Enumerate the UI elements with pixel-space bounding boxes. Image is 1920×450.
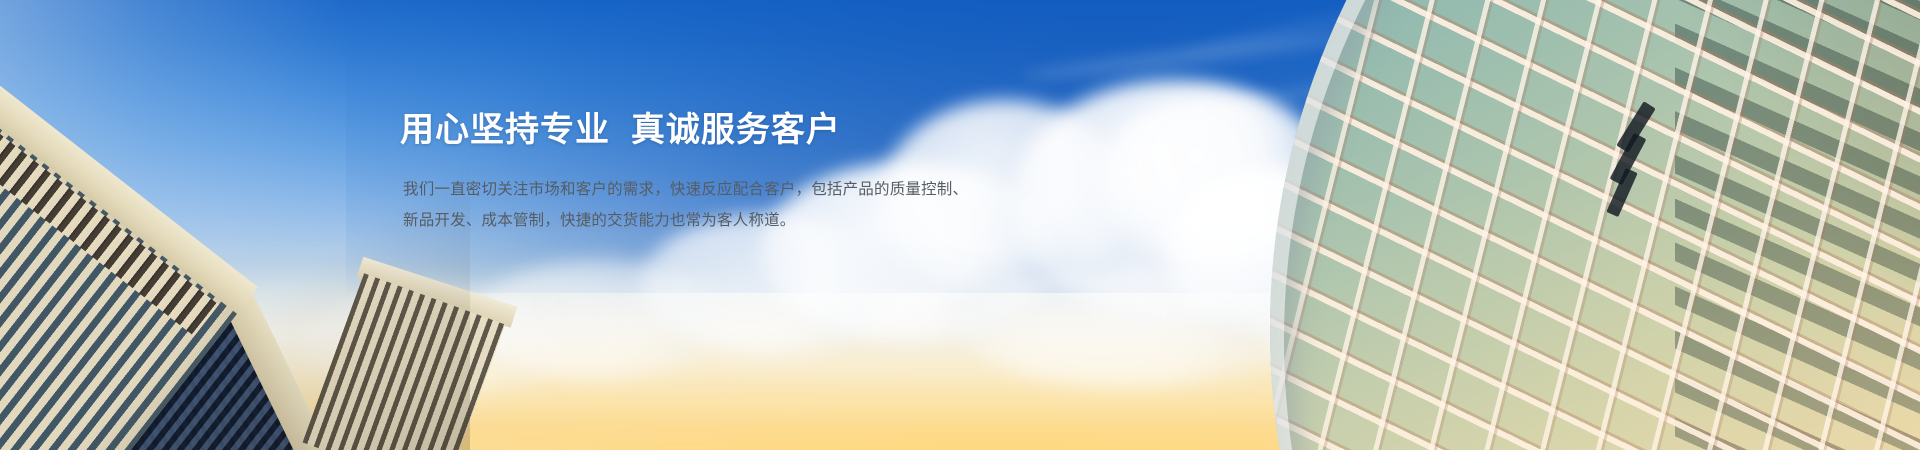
banner-paragraph: 我们一直密切关注市场和客户的需求，快速反应配合客户，包括产品的质量控制、 新品开… xyxy=(403,174,1160,236)
banner-copy-block: 用心坚持专业 真诚服务客户 我们一直密切关注市场和客户的需求，快速反应配合客户，… xyxy=(400,108,1160,236)
banner-paragraph-line-2: 新品开发、成本管制，快捷的交货能力也常为客人称道。 xyxy=(403,205,1160,236)
banner-headline: 用心坚持专业 真诚服务客户 xyxy=(400,108,1160,152)
hero-banner: 用心坚持专业 真诚服务客户 我们一直密切关注市场和客户的需求，快速反应配合客户，… xyxy=(0,0,1920,450)
banner-paragraph-line-1: 我们一直密切关注市场和客户的需求，快速反应配合客户，包括产品的质量控制、 xyxy=(403,174,1160,205)
